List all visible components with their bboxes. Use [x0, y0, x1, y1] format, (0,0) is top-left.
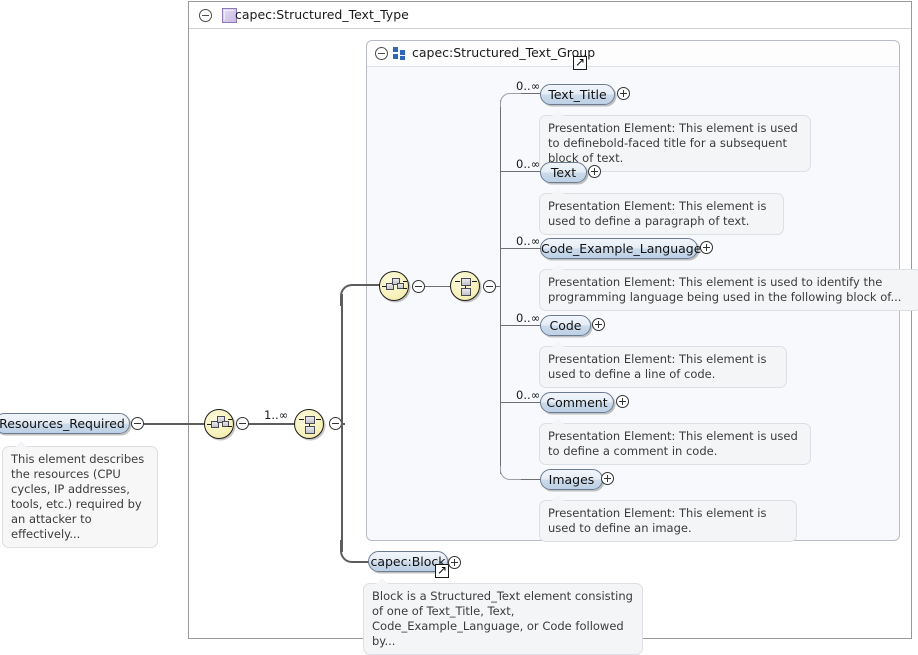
element-code[interactable]: Code	[540, 315, 591, 336]
element-label: Code	[541, 316, 590, 336]
connector-elbow	[340, 540, 370, 563]
element-label: Resources_Required	[0, 414, 129, 434]
collapse-icon[interactable]	[412, 280, 425, 293]
element-label: Comment	[541, 393, 613, 413]
connector-line	[144, 423, 205, 425]
connector-elbow	[340, 284, 370, 306]
sequence-compositor-root[interactable]	[294, 409, 324, 439]
element-label: Text_Title	[541, 85, 614, 105]
children-trunk	[500, 100, 501, 474]
element-label: Images	[541, 470, 602, 490]
collapse-icon[interactable]	[483, 280, 496, 293]
connector-line	[366, 284, 380, 286]
sequence-compositor-group[interactable]	[450, 271, 480, 301]
element-images[interactable]: Images	[540, 469, 603, 490]
cardinality-text-title: 0..∞	[516, 79, 540, 93]
connector-elbow	[500, 466, 522, 480]
expand-icon[interactable]	[700, 241, 713, 254]
element-code-example-language[interactable]: Code_Example_Language	[540, 238, 698, 259]
choice-compositor-root[interactable]	[204, 409, 234, 439]
annotation-comment: Presentation Element: This element is us…	[539, 423, 811, 465]
element-text-title[interactable]: Text_Title	[540, 84, 615, 105]
open-reference-icon[interactable]	[573, 56, 587, 70]
expand-icon[interactable]	[601, 472, 614, 485]
collapse-icon[interactable]	[131, 417, 144, 430]
expand-icon[interactable]	[617, 87, 630, 100]
connector-elbow	[500, 93, 522, 107]
group-icon	[393, 47, 406, 60]
annotation-capec-block: Block is a Structured_Text element consi…	[363, 583, 643, 655]
element-label: Code_Example_Language	[541, 239, 697, 259]
element-text[interactable]: Text	[540, 162, 587, 183]
connector-line	[521, 479, 541, 480]
expand-icon[interactable]	[448, 556, 461, 569]
annotation-code: Presentation Element: This element is us…	[539, 346, 787, 388]
annotation-text: Presentation Element: This element is us…	[539, 193, 784, 235]
connector-line	[500, 325, 541, 326]
complex-type-title: capec:Structured_Text_Type	[235, 7, 409, 22]
expand-icon[interactable]	[616, 395, 629, 408]
collapse-icon[interactable]	[375, 47, 388, 60]
expand-icon[interactable]	[588, 165, 601, 178]
open-reference-icon[interactable]	[435, 564, 449, 578]
annotation-resources-required: This element describes the resources (CP…	[2, 446, 158, 548]
collapse-icon[interactable]	[236, 417, 249, 430]
connector-line	[500, 248, 541, 249]
connector-line	[500, 171, 541, 172]
annotation-images: Presentation Element: This element is us…	[539, 500, 797, 542]
cardinality-code-example-language: 0..∞	[516, 234, 540, 248]
connector-line	[249, 423, 295, 425]
cardinality-text: 0..∞	[516, 157, 540, 171]
collapse-icon[interactable]	[199, 9, 212, 22]
model-group-header: capec:Structured_Text_Group	[367, 41, 899, 67]
annotation-code-example-language: Presentation Element: This element is us…	[539, 269, 918, 311]
element-comment[interactable]: Comment	[540, 392, 614, 413]
element-resources-required[interactable]: Resources_Required	[0, 413, 130, 434]
cardinality-comment: 0..∞	[516, 388, 540, 402]
element-label: Text	[541, 163, 586, 183]
cardinality-root-sequence: 1..∞	[264, 408, 288, 422]
model-group-title: capec:Structured_Text_Group	[412, 45, 595, 60]
choice-compositor-group[interactable]	[379, 271, 409, 301]
connector-line	[521, 93, 541, 94]
expand-icon[interactable]	[592, 318, 605, 331]
connector-line	[425, 286, 450, 287]
cardinality-code: 0..∞	[516, 311, 540, 325]
connector-line	[341, 423, 345, 425]
complex-type-header: capec:Structured_Text_Type	[189, 2, 911, 29]
connector-line	[500, 402, 541, 403]
